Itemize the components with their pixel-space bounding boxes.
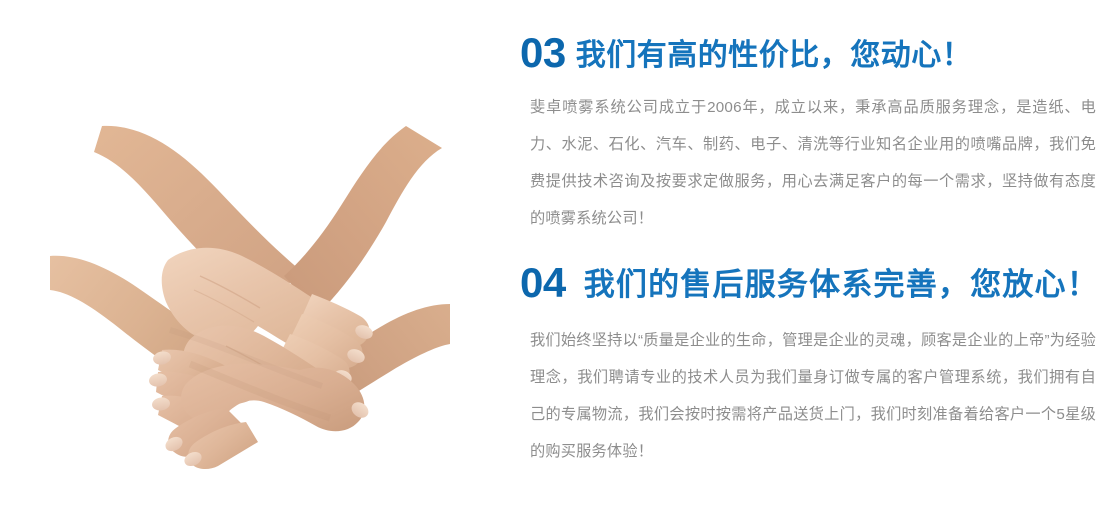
feature-title-03: 我们有高的性价比，您动心！ bbox=[576, 39, 973, 72]
feature-heading-04: 04我们的售后服务体系完善，您放心！ bbox=[520, 262, 1108, 304]
features-panel: 03我们有高的性价比，您动心！ 斐卓喷雾系统公司成立于2006年，成立以来，秉承… bbox=[520, 0, 1108, 513]
feature-heading-03: 03我们有高的性价比，您动心！ bbox=[520, 32, 1108, 74]
feature-number-03: 03 bbox=[520, 29, 566, 76]
photo-panel bbox=[0, 0, 510, 513]
feature-title-04: 我们的售后服务体系完善，您放心！ bbox=[584, 267, 1099, 302]
feature-block-04: 04我们的售后服务体系完善，您放心！ 我们始终坚持以“质量是企业的生命，管理是企… bbox=[520, 262, 1108, 470]
feature-body-03: 斐卓喷雾系统公司成立于2006年，成立以来，秉承高品质服务理念，是造纸、电力、水… bbox=[530, 89, 1096, 237]
promo-banner: 03我们有高的性价比，您动心！ 斐卓喷雾系统公司成立于2006年，成立以来，秉承… bbox=[0, 0, 1108, 513]
stacked-hands-teamwork-photo bbox=[50, 118, 450, 470]
feature-body-04: 我们始终坚持以“质量是企业的生命，管理是企业的灵魂，顾客是企业的上帝”为经验理念… bbox=[530, 322, 1096, 470]
feature-number-04: 04 bbox=[520, 259, 566, 306]
feature-block-03: 03我们有高的性价比，您动心！ 斐卓喷雾系统公司成立于2006年，成立以来，秉承… bbox=[520, 32, 1108, 237]
